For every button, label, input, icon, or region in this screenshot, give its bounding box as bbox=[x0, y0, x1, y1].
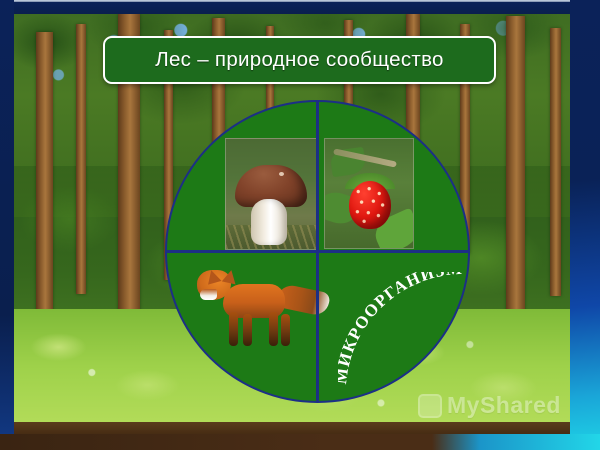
community-circle-diagram: МИКРООРГАНИЗМЫ bbox=[165, 100, 470, 403]
page-title: Лес – природное сообщество bbox=[155, 48, 444, 72]
quadrant-photo-mushroom bbox=[225, 138, 317, 250]
mushroom-stem-icon bbox=[251, 199, 287, 245]
fox-leg bbox=[229, 312, 238, 346]
quadrant-illustration-fox bbox=[189, 262, 321, 362]
frame-border-left bbox=[0, 0, 14, 450]
quadrant-photo-strawberry bbox=[324, 138, 414, 249]
frame-border-bottom bbox=[0, 434, 600, 450]
slide-title-banner: Лес – природное сообщество bbox=[103, 36, 496, 84]
fox-ear bbox=[204, 268, 221, 284]
tree-trunk bbox=[506, 16, 525, 316]
horizontal-divider bbox=[167, 250, 468, 253]
fox-snout bbox=[200, 289, 217, 300]
fox-ear bbox=[222, 269, 238, 285]
tree-trunk bbox=[76, 24, 86, 294]
fox-leg bbox=[269, 312, 278, 346]
fox-leg bbox=[243, 314, 252, 346]
tree-trunk bbox=[36, 32, 53, 332]
fox-leg bbox=[281, 314, 290, 346]
tree-trunk bbox=[550, 28, 561, 296]
frame-border-top bbox=[0, 0, 600, 14]
presentation-slide: Лес – природное сообщество bbox=[0, 0, 600, 450]
frame-border-right bbox=[570, 0, 600, 450]
strawberry-fruit-icon bbox=[349, 181, 391, 229]
